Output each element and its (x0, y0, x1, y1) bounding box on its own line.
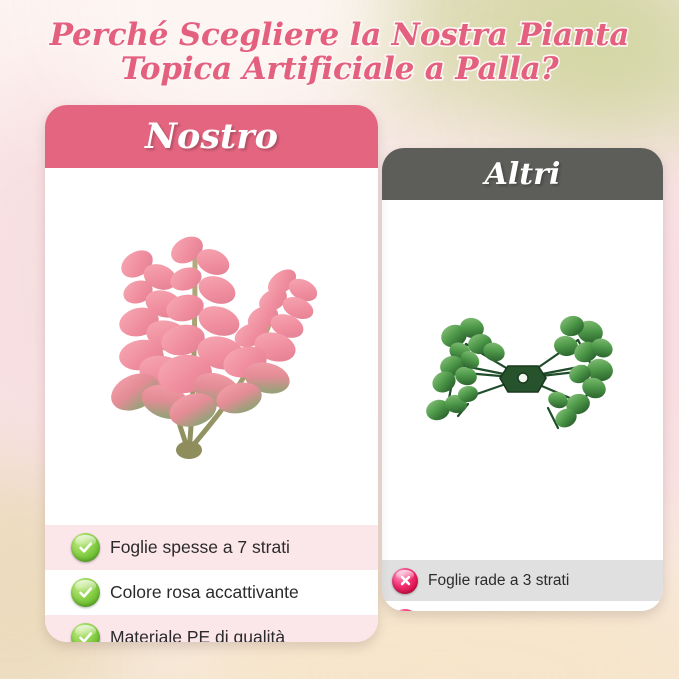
page-title: Perché Scegliere la Nostra Pianta Topica… (0, 18, 679, 86)
green-plant-illustration (408, 300, 638, 460)
comparison-card-others: Altri (382, 148, 663, 611)
check-circle-icon (71, 578, 100, 607)
x-circle-icon (392, 609, 418, 612)
feature-row: Foglie rade a 3 strati (382, 560, 663, 601)
card-header-others-label: Altri (485, 157, 561, 192)
feature-row: Colore rosa accattivante (45, 570, 378, 615)
feature-list-ours: Foglie spesse a 7 strati Colore rosa acc… (45, 525, 378, 642)
feature-row: Colore opaco (382, 601, 663, 611)
feature-label: Colore rosa accattivante (110, 582, 299, 603)
card-header-ours-label: Nostro (145, 116, 278, 157)
page-title-line-2: Topica Artificiale a Palla? (0, 52, 679, 86)
comparison-card-ours: Nostro (45, 105, 378, 642)
product-image-ours (45, 168, 378, 525)
feature-label: Foglie spesse a 7 strati (110, 537, 290, 558)
card-header-ours: Nostro (45, 105, 378, 168)
x-circle-icon (392, 568, 418, 594)
feature-row: Materiale PE di qualità (45, 615, 378, 642)
check-circle-icon (71, 623, 100, 642)
pink-plant-illustration (67, 222, 357, 472)
check-circle-icon (71, 533, 100, 562)
product-image-others (382, 200, 663, 560)
feature-list-others: Foglie rade a 3 strati Colore opaco Plas… (382, 560, 663, 611)
card-header-others: Altri (382, 148, 663, 200)
feature-row: Foglie spesse a 7 strati (45, 525, 378, 570)
page-title-line-1: Perché Scegliere la Nostra Pianta (0, 18, 679, 52)
feature-label: Materiale PE di qualità (110, 627, 285, 642)
feature-label: Foglie rade a 3 strati (428, 572, 569, 590)
